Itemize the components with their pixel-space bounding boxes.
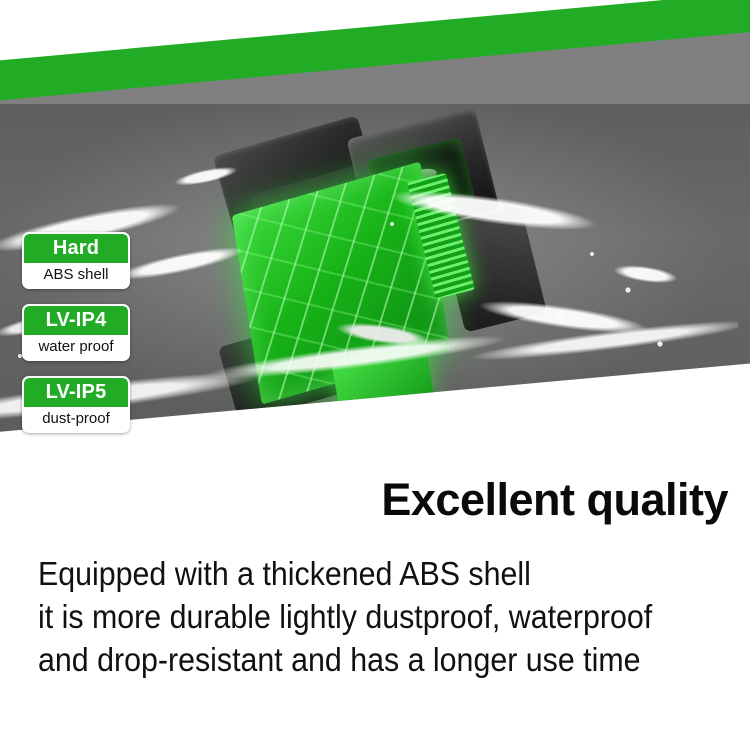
headline: Excellent quality: [381, 474, 728, 526]
body-line: it is more durable lightly dustproof, wa…: [38, 595, 682, 638]
body-copy: Equipped with a thickened ABS shell it i…: [38, 552, 738, 681]
badge-title: Hard: [24, 234, 128, 263]
body-line: Equipped with a thickened ABS shell: [38, 552, 682, 595]
hero-image: Hard ABS shell LV-IP4 water proof LV-IP5…: [0, 0, 750, 500]
badge-subtitle: ABS shell: [24, 263, 128, 287]
badge-title: LV-IP5: [24, 378, 128, 407]
product-feature-banner: Hard ABS shell LV-IP4 water proof LV-IP5…: [0, 0, 750, 750]
laser-level-device: [215, 122, 545, 412]
body-line: and drop-resistant and has a longer use …: [38, 638, 682, 681]
badge-subtitle: water proof: [24, 335, 128, 359]
feature-badge-lv-ip4: LV-IP4 water proof: [22, 304, 130, 361]
badge-subtitle: dust-proof: [24, 407, 128, 431]
badge-title: LV-IP4: [24, 306, 128, 335]
feature-badge-list: Hard ABS shell LV-IP4 water proof LV-IP5…: [22, 232, 132, 448]
feature-badge-lv-ip5: LV-IP5 dust-proof: [22, 376, 130, 433]
feature-badge-hard: Hard ABS shell: [22, 232, 130, 289]
